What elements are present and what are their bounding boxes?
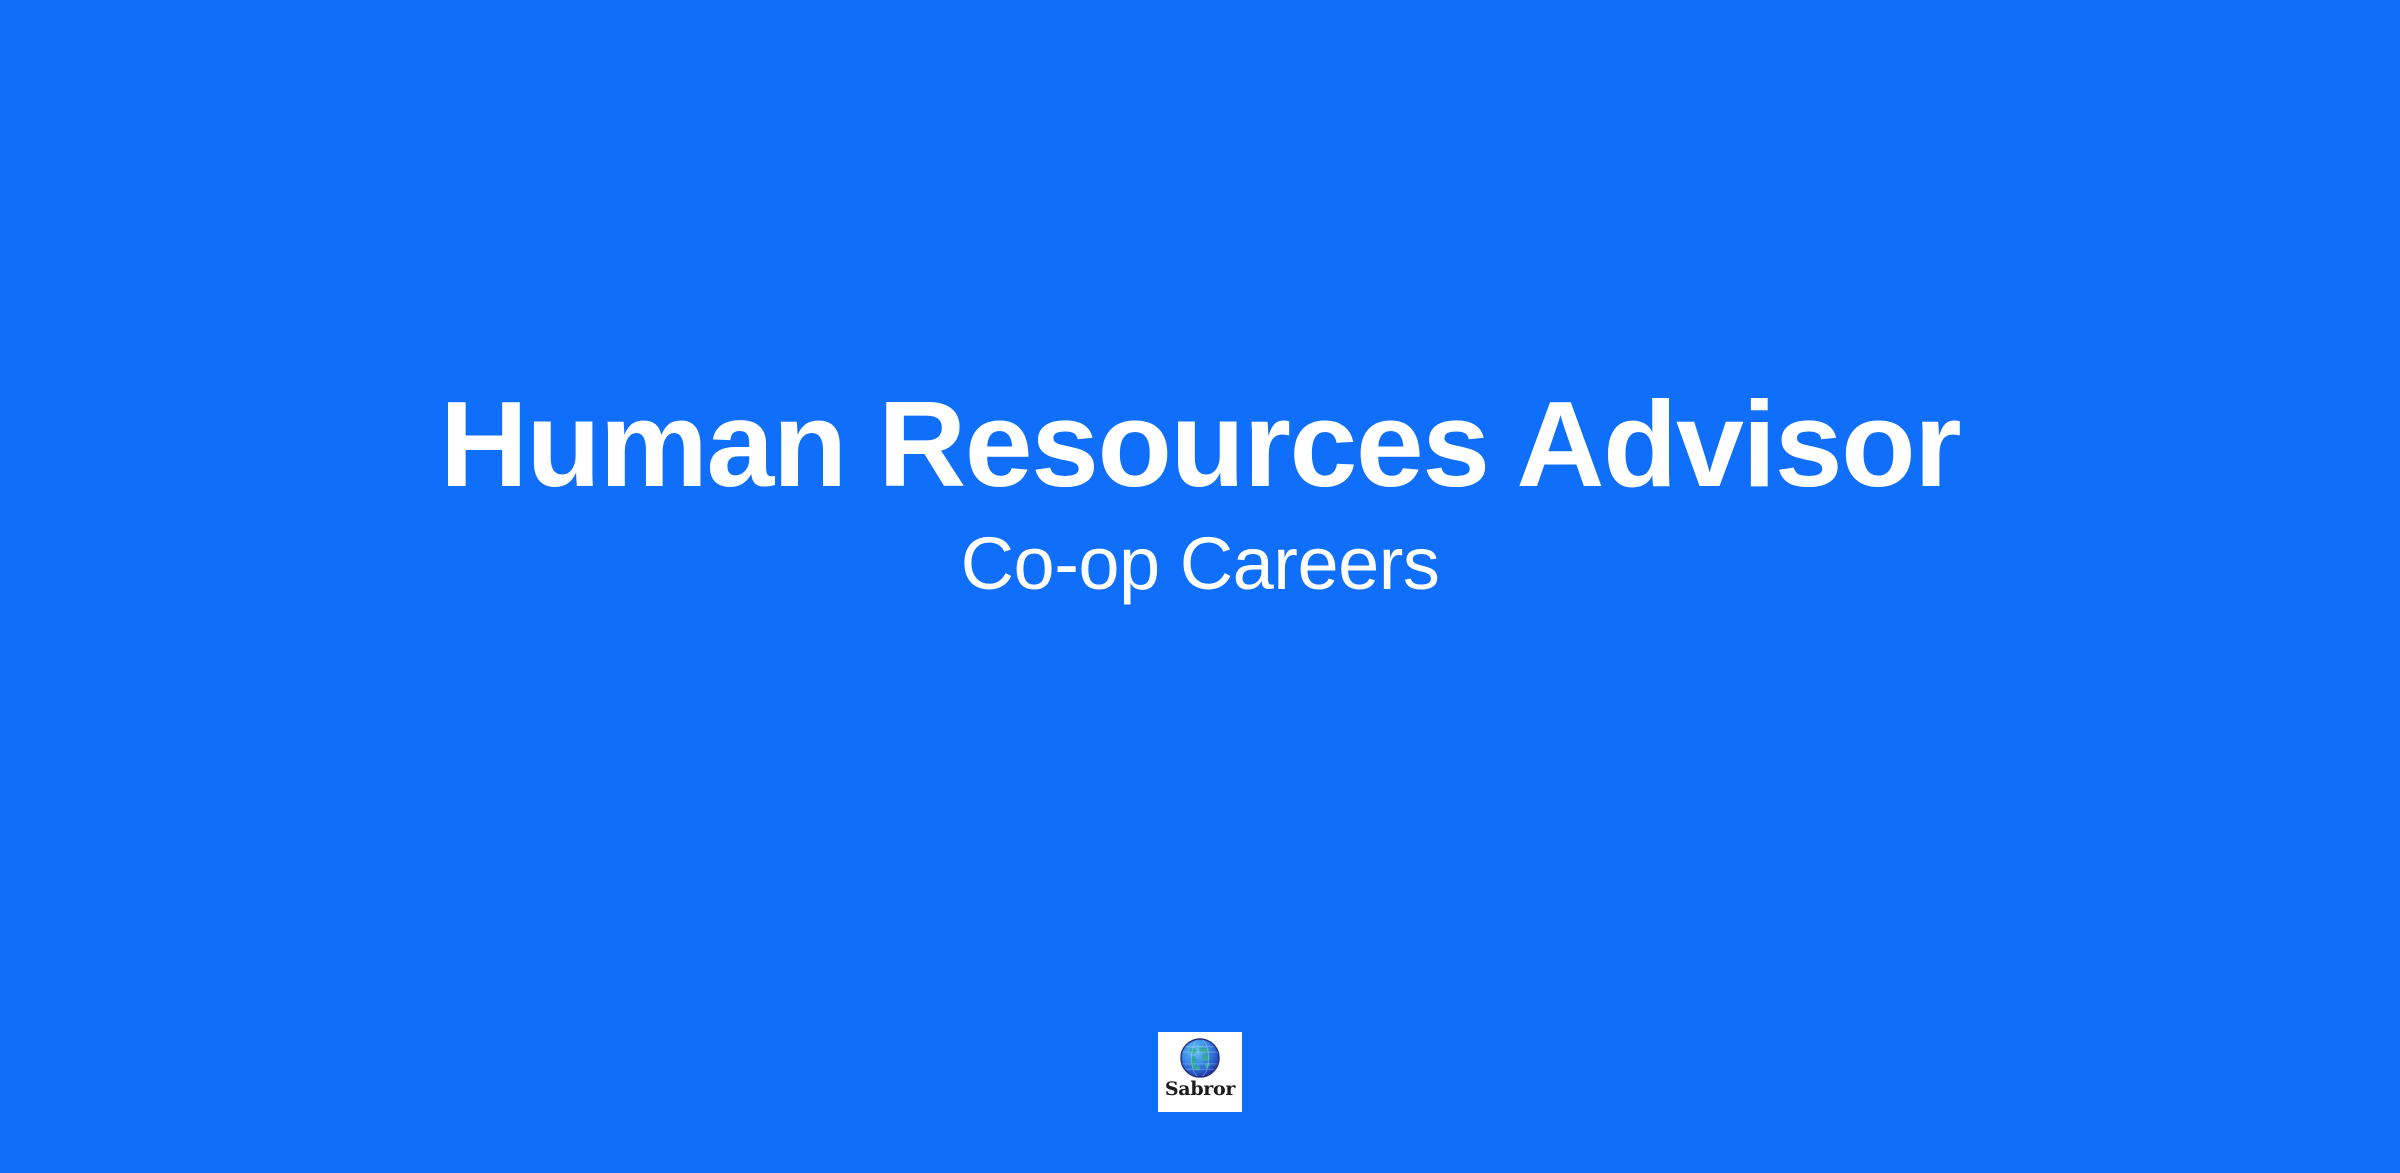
globe-icon	[1179, 1037, 1221, 1079]
sabror-logo[interactable]: Sabror	[1158, 1032, 1242, 1112]
slide-canvas: Human Resources Advisor Co-op Careers	[0, 0, 2400, 1173]
hero-text-block: Human Resources Advisor Co-op Careers	[0, 380, 2400, 605]
logo-wordmark: Sabror	[1165, 1080, 1235, 1099]
logo-container: Sabror	[0, 1032, 2400, 1112]
page-title: Human Resources Advisor	[80, 380, 2320, 509]
page-subtitle: Co-op Careers	[80, 523, 2320, 604]
